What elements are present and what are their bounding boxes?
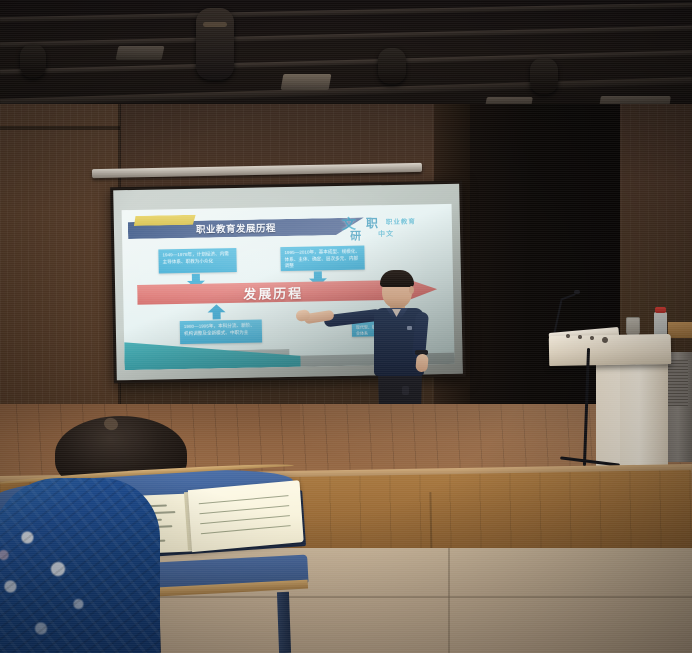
ceiling-truss (0, 26, 692, 48)
ceiling (0, 0, 692, 118)
ceiling-truss (0, 3, 692, 22)
logo-glyph-2: 职 (366, 214, 378, 231)
microphone-icon (574, 290, 580, 294)
spotlight-icon (20, 44, 46, 78)
slide-accent-bar (134, 215, 196, 226)
speaker-grille (668, 360, 688, 406)
desk-leg (277, 592, 291, 653)
panel-light-icon (116, 46, 165, 60)
panel-light-icon (281, 74, 332, 90)
logo-glyph-5: 中文 (378, 229, 394, 239)
presenter-hair (380, 270, 414, 287)
slide-title: 职业教育发展历程 (196, 218, 366, 235)
water-bottle-cap (655, 307, 666, 313)
spotlight-icon (196, 8, 234, 80)
lecture-hall-photo: 职业教育发展历程 文 职 职业教育 研 中文 1949—1978年，计划经济、内… (0, 0, 692, 653)
logo-glyph-3: 职业教育 (386, 216, 416, 227)
slide-logo-watermark: 文 职 职业教育 研 中文 (342, 213, 447, 241)
podium-desktop (549, 334, 672, 366)
podium-column (620, 363, 668, 481)
side-table (668, 322, 692, 338)
logo-glyph-4: 研 (350, 228, 361, 244)
wall-seam (0, 126, 120, 130)
cup-icon (626, 317, 640, 335)
slide-text-box: 1949—1978年，计划经济、内需主导体系、职教为小众化 (158, 248, 236, 273)
slide-text-box: 1980—1995年，本科分流、新阶、机构调整及全新模式、中职为主 (180, 320, 262, 345)
presenter-pocket (402, 386, 409, 395)
banner-arrow-label: 发展历程 (243, 282, 363, 303)
tile-grout-line (448, 548, 450, 653)
presenter-ear (409, 286, 414, 294)
presenter-left-hand (415, 354, 429, 373)
ceiling-truss (0, 50, 692, 74)
spotlight-icon (378, 48, 406, 84)
notebook-page-right (188, 480, 304, 552)
spotlight-icon (530, 58, 558, 94)
attendee-floral-dress (0, 478, 160, 653)
ceiling-truss (0, 77, 692, 106)
presenter-shirt-logo (407, 326, 412, 330)
